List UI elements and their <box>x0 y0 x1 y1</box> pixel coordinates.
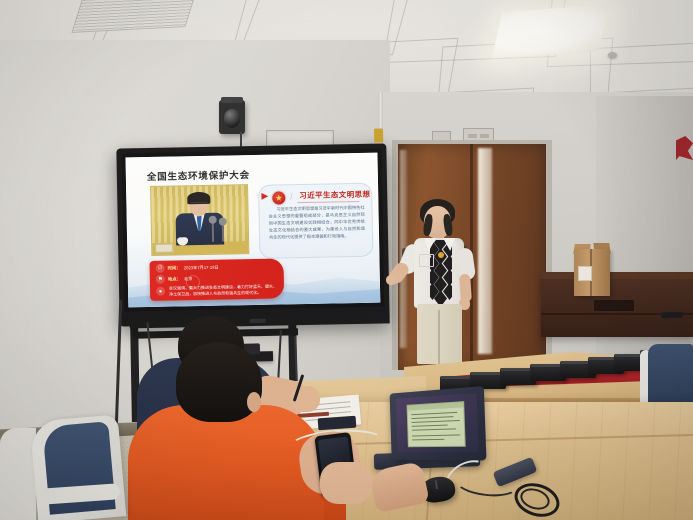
chair-right-cushion[interactable] <box>648 344 693 408</box>
display-screen: 全国生态环境保护大会 <box>125 153 380 308</box>
display-ir-sensor <box>250 319 266 323</box>
party-emblem-icon <box>272 191 285 204</box>
box-shipping-label <box>578 266 592 281</box>
smoke-detector-icon <box>608 52 617 58</box>
slide-title: 全国生态环境保护大会 <box>147 167 250 183</box>
slash-divider: / <box>290 192 292 201</box>
wall-camera-icon <box>219 100 245 134</box>
clock-icon: ⏱ <box>156 264 165 273</box>
chair-far-left[interactable] <box>0 428 36 520</box>
presenter-pocket <box>419 254 434 267</box>
slide-panel-body: 习近平生态文明思想是习近平新时代中国特色社会主义思想的重要组成部分，是马克思主义… <box>268 205 365 241</box>
slide-text-panel: / 习近平生态文明思想 习近平生态文明思想是习近平新时代中国特色社会主义思想的重… <box>258 183 373 259</box>
door-gap-light <box>478 148 492 354</box>
person-icon: ● <box>156 287 165 296</box>
slide-panel-heading: 习近平生态文明思想 <box>299 189 370 201</box>
place-value: 北京 <box>184 276 193 282</box>
place-label: 地点： <box>168 276 181 282</box>
slide-photo <box>150 184 249 256</box>
meeting-room-photo: 全国生态环境保护大会 <box>0 0 693 520</box>
info-row-note-icon: ● <box>156 287 165 296</box>
presentation-slide: 全国生态环境保护大会 <box>125 153 380 308</box>
laptop[interactable] <box>390 386 487 461</box>
display-bezel: 全国生态环境保护大会 <box>121 149 384 312</box>
laptop-screen <box>396 393 479 452</box>
flat-panel-display[interactable]: 全国生态环境保护大会 <box>116 143 389 326</box>
presenter-argyle-pattern <box>430 240 452 306</box>
orange-attendee-ear <box>247 392 261 412</box>
remote-control[interactable] <box>661 312 683 319</box>
ceiling-light-panel <box>491 4 609 58</box>
presenter-trouser-seam <box>438 310 440 364</box>
location-pin-icon: ⚑ <box>156 275 165 284</box>
time-value: 2023年7月17-18日 <box>184 264 219 271</box>
orange-shirt-torso <box>128 405 324 520</box>
photo-nameplate <box>155 244 173 253</box>
presenter-badge <box>438 252 444 258</box>
heading-underline <box>297 201 359 203</box>
time-label: 时间： <box>168 265 181 271</box>
info-row-place: ⚑ 地点： 北京 <box>156 274 193 284</box>
slide-info-card: ⏱ 时间： 2023年7月17-18日 ⚑ 地点： 北京 ● 会议强调，要大力 <box>149 258 284 301</box>
info-note-text: 会议强调，要大力推进生态文明建设，着力打好蓝天、碧水、净土保卫战，加快推进人与自… <box>169 284 277 298</box>
laptop-document-window <box>407 401 466 447</box>
presenter-hand-pointing <box>386 275 397 285</box>
info-row-time: ⏱ 时间： 2023年7月17-18日 <box>156 263 219 273</box>
flag-marker-icon <box>261 193 268 200</box>
orange-attendee-hand <box>320 462 372 504</box>
credenza-recess <box>594 300 634 311</box>
display-corner-badge <box>374 128 383 142</box>
credenza-top <box>541 272 693 279</box>
